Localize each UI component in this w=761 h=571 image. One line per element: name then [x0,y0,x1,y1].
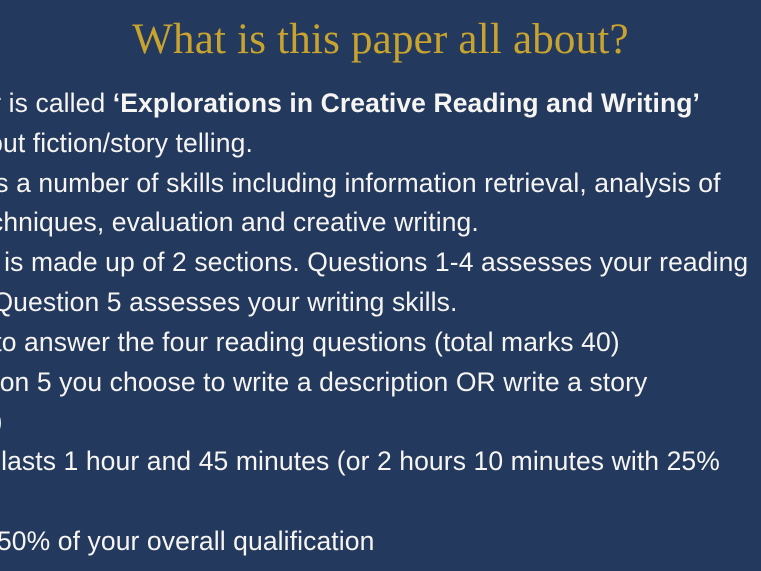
body-line-5: The paper is made up of 2 sections. Ques… [0,243,761,283]
body-line-10: The exam lasts 1 hour and 45 minutes (or… [0,442,761,482]
body-line-3: It assesses a number of skills including… [0,164,761,204]
page-title: What is this paper all about? [0,14,761,66]
body-line-4: writer’s techniques, evaluation and crea… [0,203,761,243]
body-line-9: (marks 40) [0,402,761,442]
body-line-6: skills and Question 5 assesses your writ… [0,283,761,323]
body-line-1: This paper is called ‘Explorations in Cr… [0,84,761,124]
body-line-11: extra time) [0,482,761,522]
body-line-1-bold: ‘Explorations in Creative Reading and Wr… [113,88,700,118]
body-line-8: For Question 5 you choose to write a des… [0,363,761,403]
slide-canvas: What is this paper all about? This paper… [0,0,761,571]
slide-body-text: This paper is called ‘Explorations in Cr… [0,84,761,562]
body-line-1-text: This paper is called [0,88,113,118]
body-line-12: It is worth 50% of your overall qualific… [0,522,761,562]
body-line-7: You need to answer the four reading ques… [0,323,761,363]
body-line-2: It is all about fiction/story telling. [0,124,761,164]
